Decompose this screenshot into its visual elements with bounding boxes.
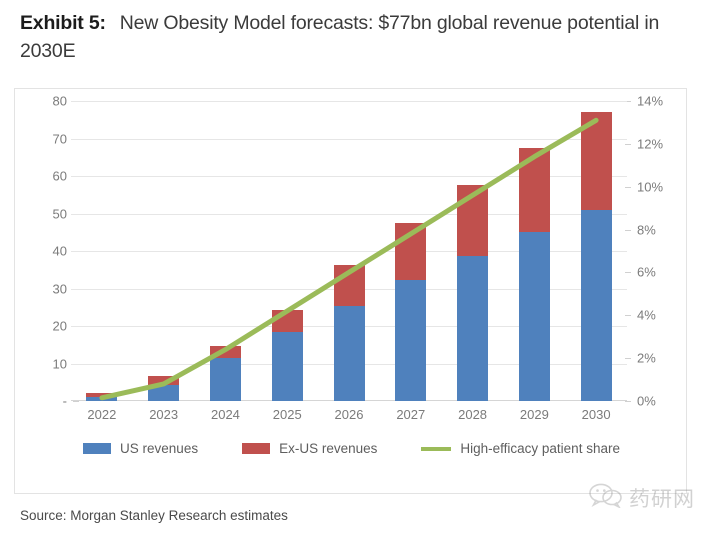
legend-item[interactable]: US revenues [83,441,198,456]
y-axis-left-tick-mark [73,401,79,402]
bar-segment-ex-us-revenues [334,265,365,306]
bar-group-2026 [318,101,380,401]
x-axis-label-2025: 2025 [256,407,318,422]
bar-stack [272,310,303,401]
bar-stack [334,265,365,401]
watermark: 药研网 [589,482,695,513]
legend-item[interactable]: Ex-US revenues [242,441,377,456]
bar-stack [581,112,612,401]
bar-group-2025 [256,101,318,401]
y-axis-left-tick: 40 [53,244,67,259]
bar-segment-us-revenues [457,256,488,401]
x-axis-label-2027: 2027 [380,407,442,422]
bar-group-2029 [503,101,565,401]
y-axis-right-tick: 2% [637,351,656,366]
legend-label: US revenues [120,441,198,456]
bar-segment-us-revenues [148,385,179,401]
bar-segment-us-revenues [519,232,550,401]
y-axis-left: -1020304050607080 [21,101,67,401]
bar-segment-ex-us-revenues [581,112,612,210]
source-note: Source: Morgan Stanley Research estimate… [20,508,288,523]
x-axis-label-2026: 2026 [318,407,380,422]
y-axis-left-tick: 80 [53,94,67,109]
bar-segment-ex-us-revenues [457,185,488,257]
bar-stack [210,346,241,401]
y-axis-left-tick: - [63,394,67,409]
bar-segment-us-revenues [395,280,426,401]
x-axis-label-2030: 2030 [565,407,627,422]
bar-group-2027 [380,101,442,401]
bar-segment-ex-us-revenues [519,148,550,232]
watermark-text: 药研网 [629,483,695,513]
bar-series-group [71,101,627,401]
y-axis-left-tick: 30 [53,281,67,296]
y-axis-right-tick: 10% [637,179,663,194]
y-axis-left-tick: 60 [53,169,67,184]
legend-item[interactable]: High-efficacy patient share [421,441,620,456]
bar-segment-ex-us-revenues [210,346,241,358]
legend-color-swatch-icon [242,443,270,454]
bar-stack [457,185,488,401]
y-axis-left-tick: 10 [53,356,67,371]
y-axis-right-tick-mark [625,401,631,402]
chart-legend: US revenuesEx-US revenuesHigh-efficacy p… [15,441,688,456]
y-axis-right-tick: 4% [637,308,656,323]
x-axis-labels: 202220232024202520262027202820292030 [71,407,627,422]
y-axis-right-tick: 6% [637,265,656,280]
bar-group-2030 [565,101,627,401]
chart-plot-wrapper: -1020304050607080 0%2%4%6%8%10%12%14% 20… [15,89,688,495]
exhibit-title-text: New Obesity Model forecasts: $77bn globa… [20,12,659,62]
bar-segment-us-revenues [272,332,303,401]
y-axis-right-tick: 8% [637,222,656,237]
bar-stack [148,376,179,402]
bar-segment-us-revenues [334,306,365,401]
page-title: Exhibit 5:New Obesity Model forecasts: $… [0,0,703,65]
bar-segment-ex-us-revenues [272,310,303,331]
chart-container: -1020304050607080 0%2%4%6%8%10%12%14% 20… [14,88,687,494]
y-axis-right: 0%2%4%6%8%10%12%14% [629,101,675,401]
bar-segment-us-revenues [86,397,117,402]
bar-group-2022 [71,101,133,401]
exhibit-label: Exhibit 5: [20,12,106,34]
x-axis-label-2028: 2028 [442,407,504,422]
bar-segment-ex-us-revenues [395,223,426,280]
plot-area [71,101,627,401]
y-axis-left-tick: 70 [53,131,67,146]
bar-segment-us-revenues [581,210,612,401]
bar-stack [395,223,426,402]
x-axis-label-2024: 2024 [195,407,257,422]
y-axis-left-tick: 50 [53,206,67,221]
bar-stack [519,148,550,401]
legend-color-swatch-icon [83,443,111,454]
x-axis-label-2029: 2029 [503,407,565,422]
bar-segment-us-revenues [210,358,241,401]
y-axis-right-tick: 12% [637,136,663,151]
y-axis-right-tick: 0% [637,394,656,409]
legend-label: High-efficacy patient share [460,441,620,456]
bar-segment-ex-us-revenues [148,376,179,386]
bar-group-2023 [133,101,195,401]
y-axis-right-tick: 14% [637,94,663,109]
bar-group-2024 [195,101,257,401]
legend-line-swatch-icon [421,447,451,451]
bar-group-2028 [442,101,504,401]
legend-label: Ex-US revenues [279,441,377,456]
x-axis-label-2022: 2022 [71,407,133,422]
x-axis-label-2023: 2023 [133,407,195,422]
y-axis-left-tick: 20 [53,319,67,334]
bar-stack [86,393,117,401]
wechat-icon [589,482,623,513]
